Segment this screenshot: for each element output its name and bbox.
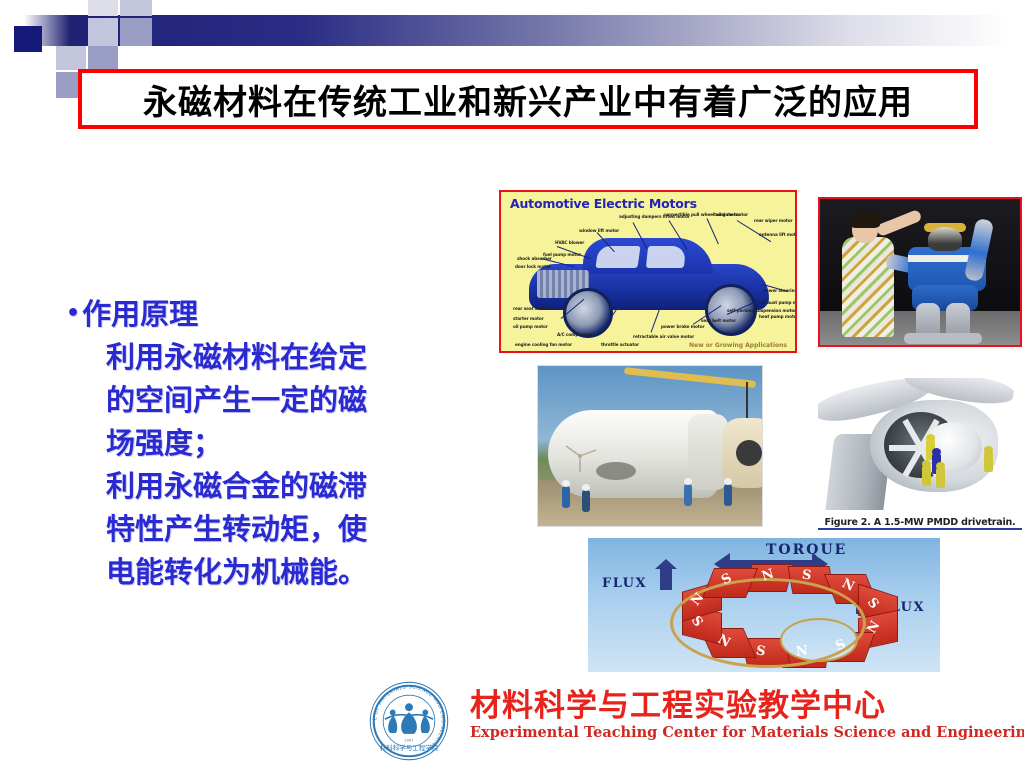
- wind-turbine-nacelle-image: [537, 365, 763, 527]
- body-line-4: 利用永磁合金的磁滞: [66, 465, 466, 508]
- slide-footer: COLLEGE OF MATERIALS SCIENCE AND ENGINEE…: [366, 676, 1006, 764]
- scale-person-figure: [984, 452, 993, 472]
- callout-label: exhaust pump motor: [759, 300, 797, 305]
- body-text-block: •作用原理 利用永磁材料在给定 的空间产生一定的磁 场强度； 利用永磁合金的磁滞…: [66, 292, 466, 594]
- callout-label: door lock motor: [515, 264, 551, 269]
- callout-label: shock absorber: [517, 256, 552, 261]
- worker-figure: [562, 486, 570, 508]
- kimono-person-body: [842, 237, 894, 337]
- humanoid-robot-image: [818, 197, 1022, 347]
- svg-text:材料科学与工程学院: 材料科学与工程学院: [380, 743, 439, 752]
- callout-label: starter motor: [513, 316, 544, 321]
- header-square-2: [120, 0, 152, 16]
- slide-canvas: 永磁材料在传统工业和新兴产业中有着广泛的应用 •作用原理 利用永磁材料在给定 的…: [0, 0, 1024, 768]
- permanent-magnet-rotor-image: TORQUE FLUX FLUX N S N: [588, 538, 940, 672]
- scale-person-figure: [922, 466, 931, 486]
- pmdd-figure-caption: Figure 2. A 1.5-MW PMDD drivetrain.: [818, 517, 1022, 528]
- car-window-rear: [646, 246, 686, 268]
- nacelle-hatch: [596, 462, 636, 480]
- header-square-4: [120, 18, 152, 46]
- robot-head: [928, 227, 962, 251]
- callout-label: rear wiper motor: [754, 218, 793, 223]
- callout-line: [707, 218, 719, 244]
- nacelle-hub: [736, 440, 762, 466]
- crane-boom: [624, 367, 756, 388]
- worker-figure: [582, 490, 590, 512]
- body-line-6: 电能转化为机械能。: [66, 551, 466, 594]
- slide-title-box: 永磁材料在传统工业和新兴产业中有着广泛的应用: [78, 69, 978, 129]
- college-emblem-logo: COLLEGE OF MATERIALS SCIENCE AND ENGINEE…: [366, 678, 452, 764]
- worker-figure: [684, 484, 692, 506]
- header-square-1: [88, 0, 118, 16]
- callout-label: heat pump motor: [759, 314, 797, 319]
- generator-spoke: [902, 447, 923, 478]
- callout-label: rear seat actuator: [513, 306, 554, 311]
- body-line-5: 特性产生转动矩，使: [66, 508, 466, 551]
- callout-label: power steering motor: [763, 288, 797, 293]
- college-emblem-svg: COLLEGE OF MATERIALS SCIENCE AND ENGINEE…: [366, 678, 452, 764]
- worker-figure: [724, 484, 732, 506]
- body-line-2: 的空间产生一定的磁: [66, 379, 466, 422]
- torque-label: TORQUE: [766, 542, 847, 558]
- pmdd-drivetrain-image: Figure 2. A 1.5-MW PMDD drivetrain.: [818, 378, 1022, 530]
- header-gradient-bar: [0, 15, 1024, 46]
- bullet-dot-icon: •: [66, 301, 80, 326]
- callout-label: HVAC blower: [555, 240, 584, 245]
- body-line-3: 场强度；: [66, 422, 466, 465]
- svg-text:2007: 2007: [404, 739, 413, 743]
- pmdd-bottom-rule: [818, 528, 1022, 530]
- kimono-person-hair: [850, 211, 880, 228]
- page-title: 永磁材料在传统工业和新兴产业中有着广泛的应用: [143, 75, 913, 124]
- callout-label: throttle actuator: [601, 342, 639, 347]
- nacelle-logo-turbine-icon: [560, 440, 600, 472]
- bullet-heading-label: 作用原理: [82, 297, 198, 331]
- callout-label: oil pump motor: [513, 324, 548, 329]
- magnet-ring-assembly: N S N S N S N S N S N S: [640, 562, 888, 666]
- automotive-footnote: New or Growing Applications: [689, 342, 787, 349]
- header-square-6: [88, 46, 118, 70]
- center-name-chinese: 材料科学与工程实验教学中心: [470, 680, 886, 725]
- callout-label: retractable air valve motor: [633, 334, 694, 339]
- automotive-electric-motors-image: Automotive Electric Motors adjusting dam…: [499, 190, 797, 353]
- bullet-heading: •作用原理: [66, 292, 466, 336]
- body-line-1: 利用永磁材料在给定: [66, 336, 466, 379]
- automotive-image-title: Automotive Electric Motors: [510, 196, 697, 211]
- callout-label: window lift motor: [579, 228, 619, 233]
- pole-letter: N: [795, 643, 808, 659]
- callout-label: antenna lift motor: [759, 232, 797, 237]
- car-wheel-front: [563, 288, 613, 338]
- center-name-english: Experimental Teaching Center for Materia…: [470, 724, 1024, 741]
- robot-foot-right: [938, 333, 982, 344]
- callout-label: power brake motor: [661, 324, 704, 329]
- scale-person-figure: [936, 468, 945, 488]
- callout-label: tail gate motor: [714, 212, 748, 217]
- header-square-5: [56, 46, 86, 70]
- callout-label: engine cooling fan motor: [515, 342, 572, 347]
- callout-label: seat belt motor: [701, 318, 736, 323]
- car-window-front: [595, 246, 640, 268]
- header-square-3: [88, 18, 118, 46]
- callout-label: A/C compressor: [557, 332, 592, 337]
- callout-line: [651, 308, 661, 333]
- header-square-dark: [14, 26, 42, 52]
- callout-label: self-parking suspension motor: [727, 308, 796, 313]
